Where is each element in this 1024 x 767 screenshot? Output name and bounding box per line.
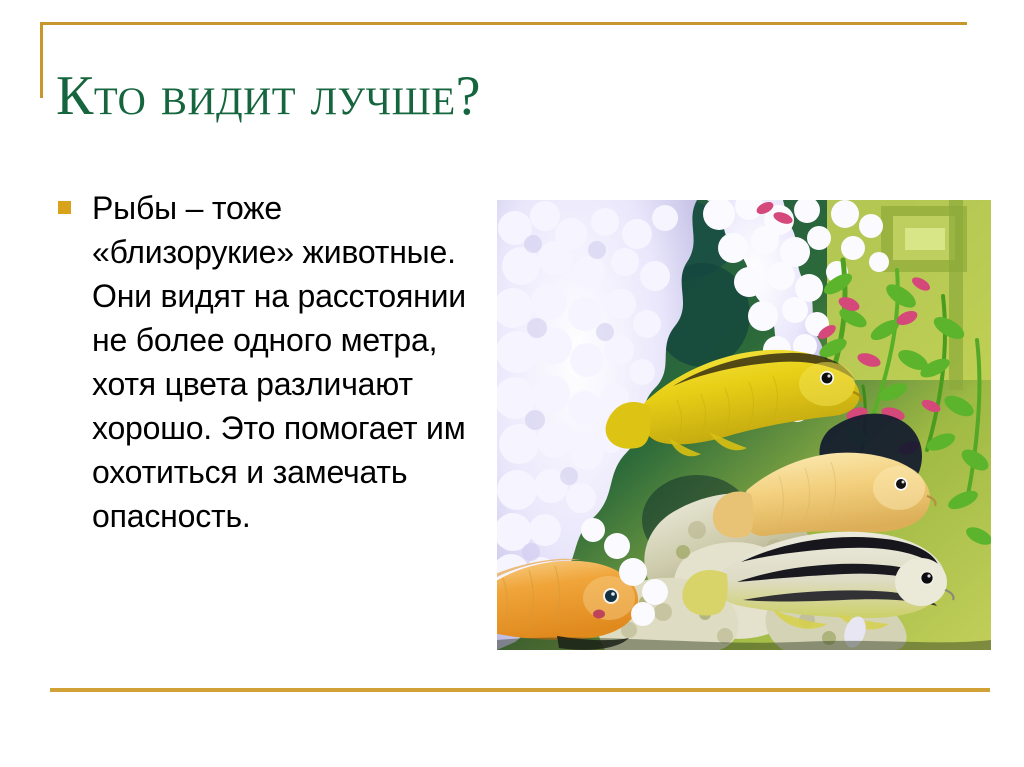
list-item: Рыбы – тоже «близорукие» животные. Они в… — [58, 186, 488, 538]
square-bullet-icon — [58, 201, 71, 214]
slide: Кто видит лучше? Рыбы – тоже «близорукие… — [0, 0, 1024, 767]
bullet-item-text: Рыбы – тоже «близорукие» животные. Они в… — [92, 186, 488, 538]
top-gold-rule — [40, 22, 967, 25]
left-gold-rule — [40, 22, 43, 98]
aquarium-photo — [497, 200, 991, 650]
page-title: Кто видит лучше? — [56, 64, 816, 128]
aquarium-photo-illustration — [497, 200, 991, 650]
bottom-gold-rule — [50, 688, 990, 692]
bullet-list: Рыбы – тоже «близорукие» животные. Они в… — [58, 186, 488, 538]
